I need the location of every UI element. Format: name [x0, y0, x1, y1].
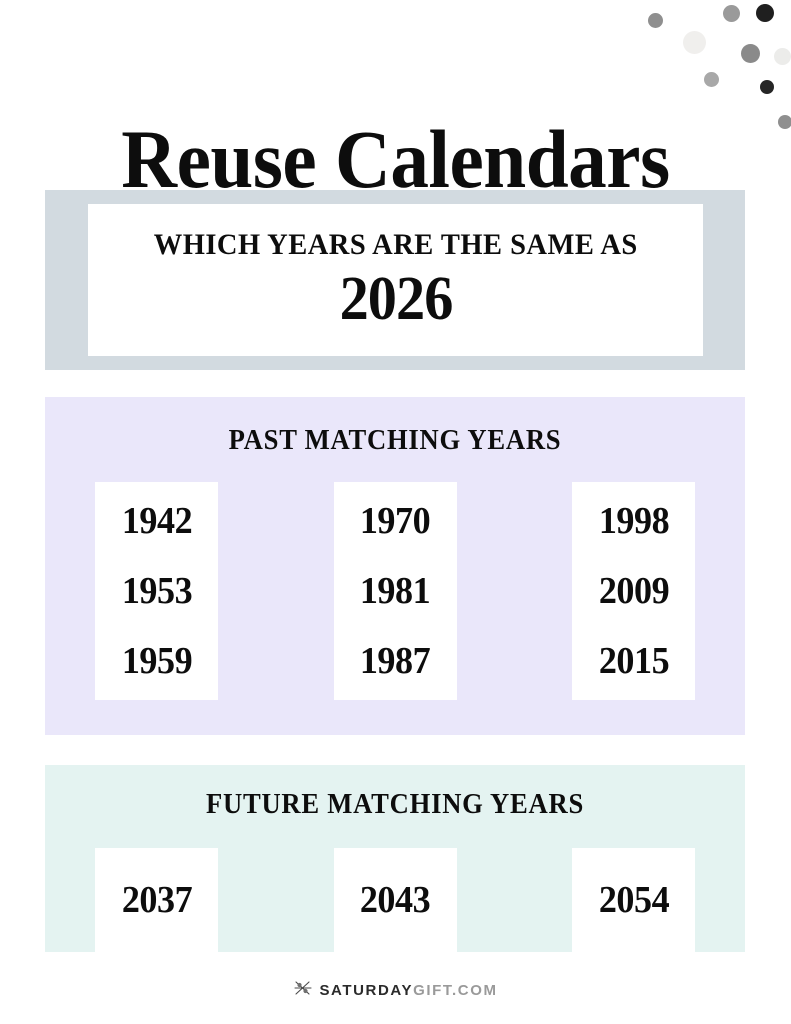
- future-section-heading: FUTURE MATCHING YEARS: [63, 789, 728, 821]
- header-band: WHICH YEARS ARE THE SAME AS 2026: [45, 190, 745, 370]
- year-value: 1981: [360, 572, 430, 610]
- year-card: 1942 1953 1959: [95, 482, 218, 700]
- confetti-dot: [648, 13, 663, 28]
- confetti-dot: [683, 31, 706, 54]
- confetti-dot: [741, 44, 760, 63]
- footer-branding: SATURDAYGIFT.COM: [0, 978, 791, 1003]
- year-value: 2009: [598, 572, 668, 610]
- year-value: 1970: [360, 502, 430, 540]
- future-matching-years-section: FUTURE MATCHING YEARS 2037 2043 2054: [45, 765, 745, 952]
- header-question-text: WHICH YEARS ARE THE SAME AS: [154, 228, 638, 262]
- page-title: Reuse Calendars: [28, 116, 764, 202]
- scissors-logo-icon: [293, 978, 313, 1003]
- confetti-dot: [723, 5, 740, 22]
- year-value: 2015: [598, 642, 668, 680]
- year-value: 2054: [598, 881, 668, 919]
- confetti-dot: [774, 48, 791, 65]
- footer-brand-text: SATURDAYGIFT.COM: [319, 982, 497, 999]
- year-value: 1953: [121, 572, 191, 610]
- year-card: 2054: [572, 848, 695, 952]
- confetti-dot: [778, 115, 791, 129]
- year-value: 1959: [121, 642, 191, 680]
- year-value: 1942: [121, 502, 191, 540]
- past-card-row: 1942 1953 1959 1970 1981 1987 1998 2009 …: [95, 482, 695, 700]
- year-value: 2037: [121, 881, 191, 919]
- year-value: 2043: [360, 881, 430, 919]
- confetti-dot: [756, 4, 774, 22]
- future-card-row: 2037 2043 2054: [95, 848, 695, 952]
- year-card: 1970 1981 1987: [334, 482, 457, 700]
- year-value: 1987: [360, 642, 430, 680]
- past-section-heading: PAST MATCHING YEARS: [63, 425, 728, 457]
- header-card: WHICH YEARS ARE THE SAME AS 2026: [88, 204, 703, 356]
- confetti-dot: [704, 72, 719, 87]
- year-value: 1998: [598, 502, 668, 540]
- year-card: 1998 2009 2015: [572, 482, 695, 700]
- footer-brand-primary: SATURDAY: [319, 982, 413, 999]
- past-matching-years-section: PAST MATCHING YEARS 1942 1953 1959 1970 …: [45, 397, 745, 735]
- year-card: 2037: [95, 848, 218, 952]
- header-target-year: 2026: [339, 266, 452, 332]
- year-card: 2043: [334, 848, 457, 952]
- confetti-dot: [760, 80, 774, 94]
- footer-brand-secondary: GIFT.COM: [413, 982, 497, 999]
